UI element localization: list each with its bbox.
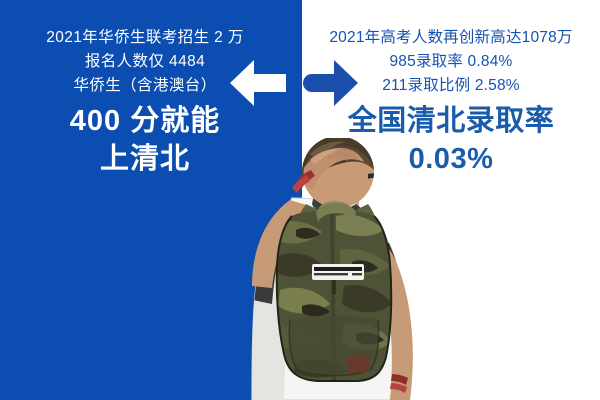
arrow-left-icon — [228, 57, 286, 109]
infographic-poster: 2021年华侨生联考招生 2 万 报名人数仅 4484 华侨生（含港澳台） 40… — [0, 0, 600, 400]
left-line-1: 2021年华侨生联考招生 2 万 — [0, 26, 290, 50]
right-line-1: 2021年高考人数再创新高达1078万 — [302, 26, 600, 50]
student-with-backpack-photo — [240, 138, 425, 400]
arrow-right-icon — [302, 57, 360, 109]
